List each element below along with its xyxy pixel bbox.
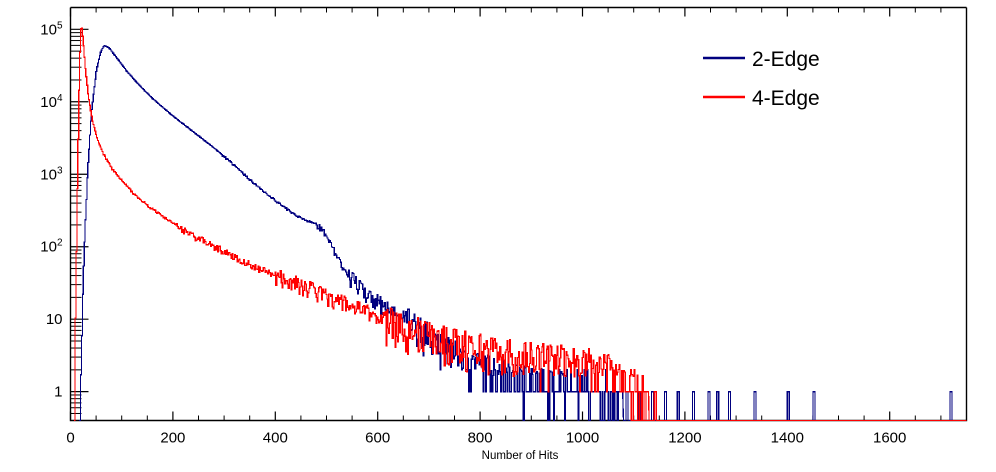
x-tick-label: 200 xyxy=(160,430,185,447)
x-tick-label: 1400 xyxy=(771,430,804,447)
legend-label-4-edge: 4-Edge xyxy=(752,87,820,110)
y-tick-label: 10 xyxy=(46,311,63,328)
x-axis-title: Number of Hits xyxy=(482,450,559,462)
legend-label-2-edge: 2-Edge xyxy=(752,48,820,71)
x-tick-label: 1000 xyxy=(566,430,599,447)
x-tick-label: 1600 xyxy=(873,430,906,447)
x-tick-label: 1200 xyxy=(668,430,701,447)
histogram-plot: 02004006008001000120014001600 1101021031… xyxy=(0,0,996,472)
x-tick-label: 400 xyxy=(263,430,288,447)
y-tick-label: 1 xyxy=(54,384,62,401)
x-tick-label: 800 xyxy=(468,430,493,447)
x-tick-label: 0 xyxy=(66,430,74,447)
x-tick-label: 600 xyxy=(365,430,390,447)
plot-background xyxy=(0,0,996,472)
chart-root: 02004006008001000120014001600 1101021031… xyxy=(0,0,996,472)
